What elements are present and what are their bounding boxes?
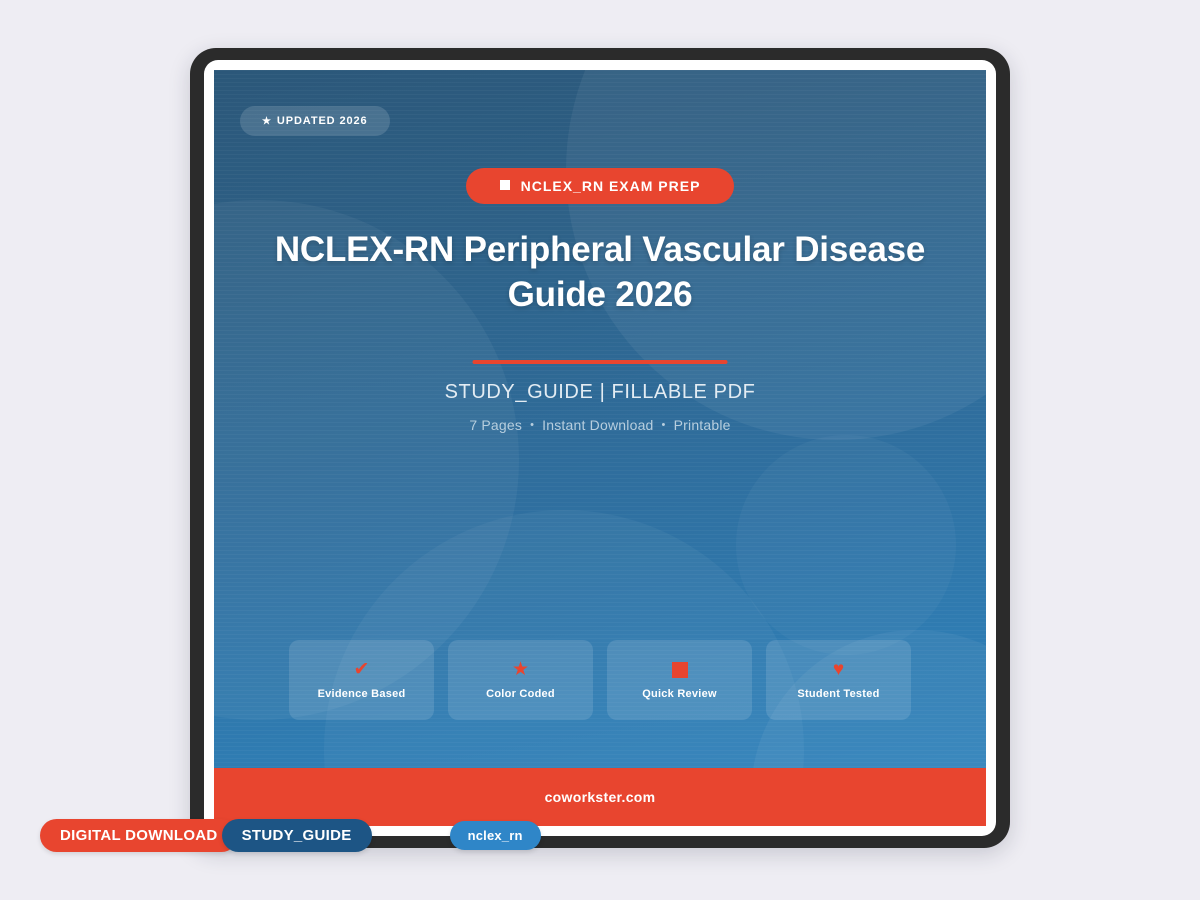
feature-card-evidence-based: ✔ Evidence Based xyxy=(289,640,434,720)
feature-label: Color Coded xyxy=(486,688,555,700)
poster-footer: coworkster.com xyxy=(214,768,986,826)
feature-card-color-coded: ★ Color Coded xyxy=(448,640,593,720)
feature-label: Quick Review xyxy=(642,688,717,700)
poster-subtitle: STUDY_GUIDE | FILLABLE PDF xyxy=(214,381,986,404)
category-pill: NCLEX_RN EXAM PREP xyxy=(466,168,735,204)
feature-label: Student Tested xyxy=(797,688,879,700)
updated-badge: ★UPDATED 2026 xyxy=(240,106,390,136)
device-frame: ★UPDATED 2026 NCLEX_RN EXAM PREP NCLEX-R… xyxy=(190,48,1010,848)
title-divider xyxy=(473,360,728,364)
heart-icon: ♥ xyxy=(833,660,844,679)
footer-site-name: coworkster.com xyxy=(545,789,656,805)
check-icon: ✔ xyxy=(354,660,370,679)
tag-study-guide[interactable]: STUDY_GUIDE xyxy=(222,819,372,852)
meta-delivery: Instant Download xyxy=(542,417,653,433)
category-pill-label: NCLEX_RN EXAM PREP xyxy=(521,178,701,194)
square-icon xyxy=(672,660,688,679)
meta-separator-2: • xyxy=(662,419,666,431)
device-screen: ★UPDATED 2026 NCLEX_RN EXAM PREP NCLEX-R… xyxy=(204,60,996,836)
feature-card-student-tested: ♥ Student Tested xyxy=(766,640,911,720)
page-root: ★UPDATED 2026 NCLEX_RN EXAM PREP NCLEX-R… xyxy=(0,0,1200,900)
updated-badge-label: UPDATED 2026 xyxy=(277,115,368,127)
product-poster: ★UPDATED 2026 NCLEX_RN EXAM PREP NCLEX-R… xyxy=(214,70,986,826)
category-pill-container: NCLEX_RN EXAM PREP xyxy=(214,168,986,204)
feature-label: Evidence Based xyxy=(318,688,406,700)
star-icon: ★ xyxy=(512,660,529,679)
tag-digital-download[interactable]: DIGITAL DOWNLOAD xyxy=(40,819,238,852)
meta-separator-1: • xyxy=(530,419,534,431)
tag-keyword-nclex-rn[interactable]: nclex_rn xyxy=(450,821,541,850)
meta-format: Printable xyxy=(674,417,731,433)
page-title: NCLEX-RN Peripheral Vascular Disease Gui… xyxy=(264,228,936,318)
star-icon: ★ xyxy=(262,116,272,127)
square-icon xyxy=(500,180,510,190)
tag-badge-row: DIGITAL DOWNLOAD STUDY_GUIDE nclex_rn xyxy=(40,819,541,852)
feature-card-list: ✔ Evidence Based ★ Color Coded Quick Rev… xyxy=(214,640,986,720)
meta-pages: 7 Pages xyxy=(469,417,522,433)
feature-card-quick-review: Quick Review xyxy=(607,640,752,720)
poster-meta: 7 Pages•Instant Download•Printable xyxy=(214,417,986,433)
poster-content: ★UPDATED 2026 NCLEX_RN EXAM PREP NCLEX-R… xyxy=(214,70,986,826)
